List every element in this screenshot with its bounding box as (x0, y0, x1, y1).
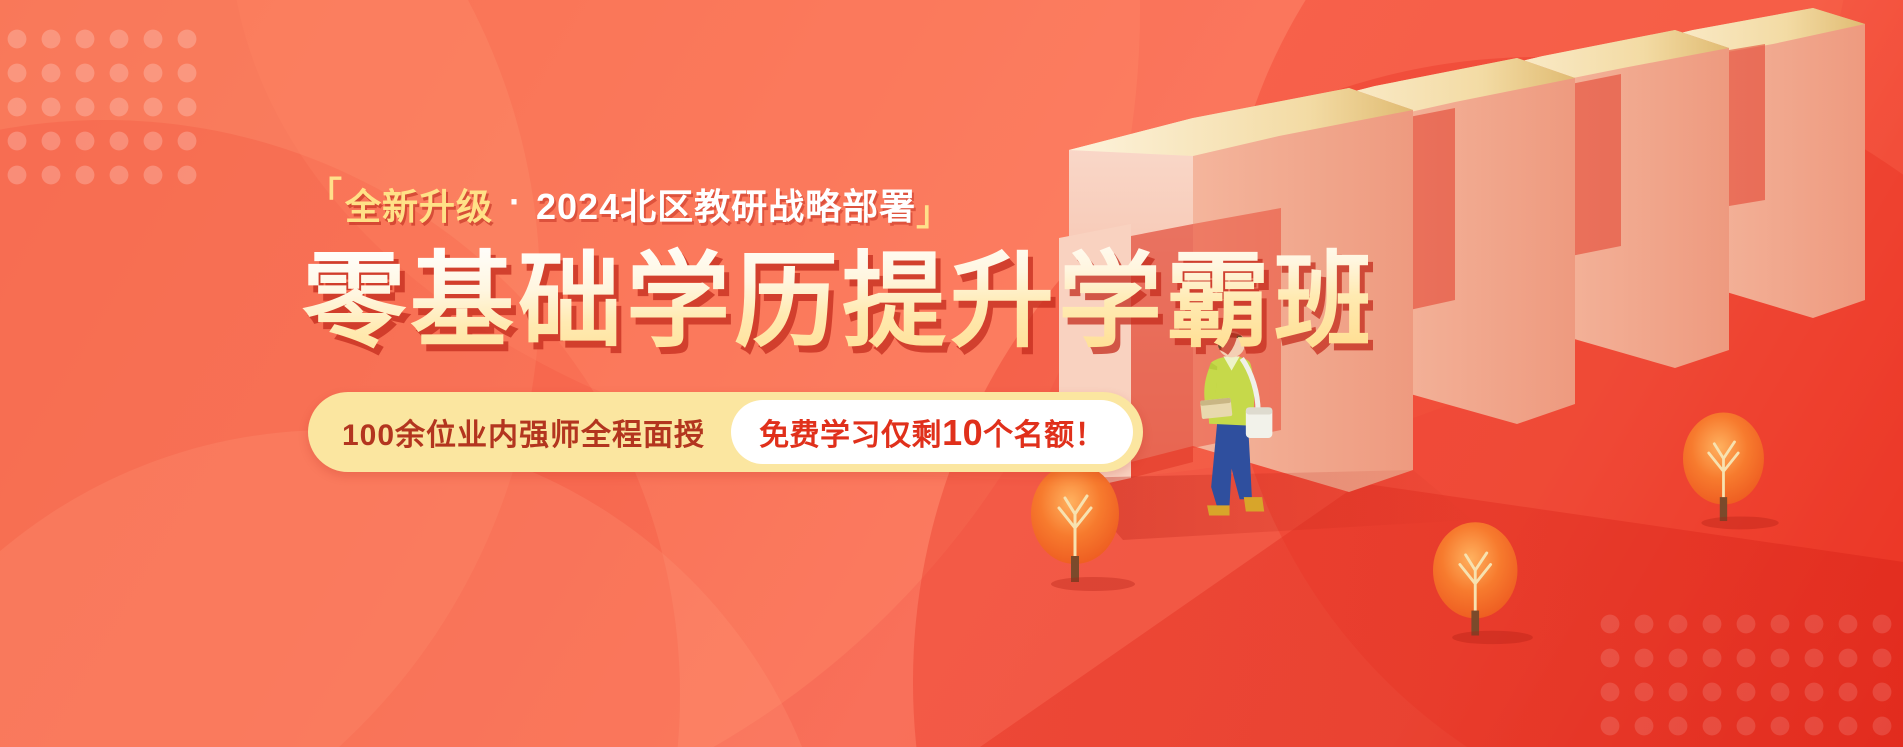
promo-pill-right-prefix: 免费学习仅剩 (759, 419, 942, 452)
bracket-close-icon: 」 (916, 197, 951, 231)
promo-banner: 「 全新升级 · 2024北区教研战略部署 」 零基础学历提升学霸班 100余位… (0, 0, 1903, 747)
promo-pill-seat-count: 10 (942, 412, 983, 453)
eyebrow-subtitle: 「 全新升级 · 2024北区教研战略部署 」 (308, 178, 1368, 230)
banner-content: 「 全新升级 · 2024北区教研战略部署 」 零基础学历提升学霸班 100余位… (308, 178, 1368, 472)
bracket-open-icon: 「 (308, 178, 343, 212)
arch-shadow (1069, 470, 1473, 540)
dot-grid-icon-top-left (0, 22, 210, 194)
promo-pill[interactable]: 100余位业内强师全程面授 免费学习仅剩10个名额！ (308, 392, 1143, 472)
eyebrow-rest: 2024北区教研战略部署 (536, 178, 916, 230)
promo-pill-left-label: 100余位业内强师全程面授 (342, 410, 731, 454)
eyebrow-highlight: 全新升级 (343, 178, 495, 230)
tree-icon-3 (1683, 412, 1779, 529)
promo-pill-right-suffix: 个名额！ (983, 419, 1105, 452)
promo-pill-right-badge[interactable]: 免费学习仅剩10个名额！ (731, 400, 1133, 464)
eyebrow-separator-icon: · (495, 181, 536, 223)
tree-icon-2 (1433, 522, 1533, 644)
page-title: 零基础学历提升学霸班 (302, 246, 1368, 358)
